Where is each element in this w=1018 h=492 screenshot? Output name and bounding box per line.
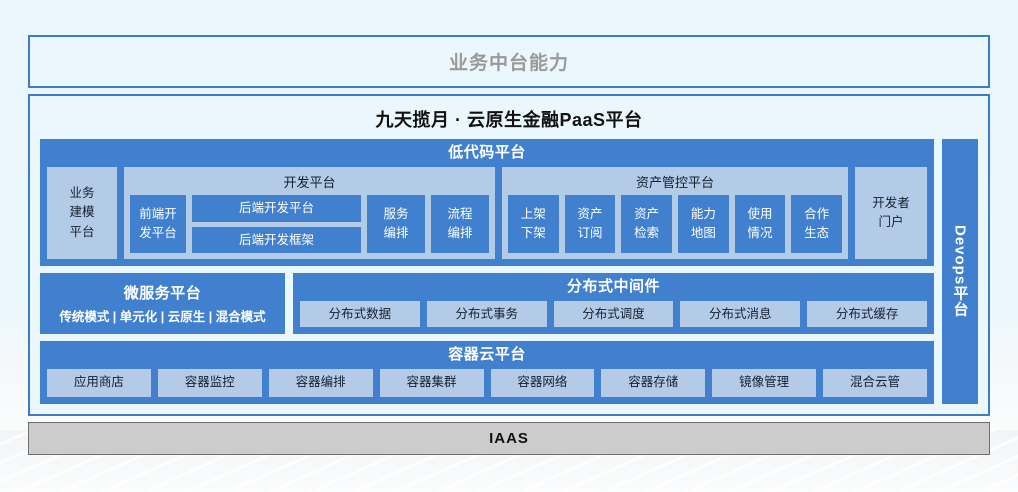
devops-platform-label: Devops平台 bbox=[950, 225, 971, 317]
microservice-platform-section[interactable]: 微服务平台 传统模式 | 单元化 | 云原生 | 混合模式 bbox=[40, 273, 285, 334]
business-middle-platform-band: 业务中台能力 bbox=[28, 35, 990, 88]
lowcode-platform-row: 业务建模平台 开发平台 前端开发平台 后端开发平台 后端开发框架 bbox=[47, 167, 927, 260]
container-cloud-platform-title: 容器云平台 bbox=[47, 345, 927, 369]
dev-platform-title: 开发平台 bbox=[130, 170, 489, 195]
asset-management-platform-panel: 资产管控平台 上架下架 资产订阅 资产检索 能力地图 使用情况 合作生态 bbox=[502, 167, 848, 260]
middleware-item-scheduling[interactable]: 分布式调度 bbox=[554, 301, 674, 327]
iaas-label: IAAS bbox=[489, 430, 529, 447]
architecture-diagram: 业务中台能力 九天揽月 · 云原生金融PaaS平台 低代码平台 业务建模平台 开… bbox=[28, 35, 990, 455]
asset-item-ecosystem[interactable]: 合作生态 bbox=[791, 195, 842, 254]
process-orchestration-chip[interactable]: 流程编排 bbox=[431, 195, 489, 254]
paas-platform-title: 九天揽月 · 云原生金融PaaS平台 bbox=[40, 104, 978, 139]
container-item-app-store[interactable]: 应用商店 bbox=[47, 369, 151, 397]
service-orchestration-chip[interactable]: 服务编排 bbox=[367, 195, 425, 254]
dev-platform-panel: 开发平台 前端开发平台 后端开发平台 后端开发框架 服务编排 流程编排 bbox=[124, 167, 495, 260]
distributed-middleware-section: 分布式中间件 分布式数据 分布式事务 分布式调度 分布式消息 分布式缓存 bbox=[293, 273, 934, 334]
middleware-item-message[interactable]: 分布式消息 bbox=[680, 301, 800, 327]
asset-item-subscription[interactable]: 资产订阅 bbox=[565, 195, 616, 254]
asset-item-capability-map[interactable]: 能力地图 bbox=[678, 195, 729, 254]
middleware-item-data[interactable]: 分布式数据 bbox=[300, 301, 420, 327]
dev-platform-items: 前端开发平台 后端开发平台 后端开发框架 服务编排 流程编排 bbox=[130, 195, 489, 254]
paas-platform-body: 低代码平台 业务建模平台 开发平台 前端开发平台 后端开发平台 bbox=[40, 139, 978, 404]
paas-stack-column: 低代码平台 业务建模平台 开发平台 前端开发平台 后端开发平台 bbox=[40, 139, 934, 404]
slide-canvas: 业务中台能力 九天揽月 · 云原生金融PaaS平台 低代码平台 业务建模平台 开… bbox=[0, 0, 1018, 492]
container-item-image-management[interactable]: 镜像管理 bbox=[712, 369, 816, 397]
asset-management-platform-title: 资产管控平台 bbox=[508, 170, 842, 195]
middleware-item-cache[interactable]: 分布式缓存 bbox=[807, 301, 927, 327]
iaas-band: IAAS bbox=[28, 422, 990, 455]
container-item-storage[interactable]: 容器存储 bbox=[601, 369, 705, 397]
asset-item-usage[interactable]: 使用情况 bbox=[735, 195, 786, 254]
container-cloud-platform-section: 容器云平台 应用商店 容器监控 容器编排 容器集群 容器网络 容器存储 镜像管理… bbox=[40, 341, 934, 404]
business-modelling-platform-box[interactable]: 业务建模平台 bbox=[47, 167, 117, 260]
backend-dev-stack: 后端开发平台 后端开发框架 bbox=[192, 195, 361, 254]
backend-dev-platform-chip[interactable]: 后端开发平台 bbox=[192, 195, 361, 222]
asset-management-items: 上架下架 资产订阅 资产检索 能力地图 使用情况 合作生态 bbox=[508, 195, 842, 254]
lowcode-platform-title: 低代码平台 bbox=[47, 143, 927, 167]
container-item-cluster[interactable]: 容器集群 bbox=[380, 369, 484, 397]
distributed-middleware-items: 分布式数据 分布式事务 分布式调度 分布式消息 分布式缓存 bbox=[300, 301, 927, 327]
paas-platform-frame: 九天揽月 · 云原生金融PaaS平台 低代码平台 业务建模平台 开发平台 bbox=[28, 94, 990, 416]
backend-dev-framework-chip[interactable]: 后端开发框架 bbox=[192, 227, 361, 254]
asset-item-search[interactable]: 资产检索 bbox=[621, 195, 672, 254]
business-middle-platform-label: 业务中台能力 bbox=[449, 48, 569, 75]
container-item-network[interactable]: 容器网络 bbox=[491, 369, 595, 397]
frontend-dev-platform-chip[interactable]: 前端开发平台 bbox=[130, 195, 186, 254]
container-cloud-items: 应用商店 容器监控 容器编排 容器集群 容器网络 容器存储 镜像管理 混合云管 bbox=[47, 369, 927, 397]
asset-item-listing[interactable]: 上架下架 bbox=[508, 195, 559, 254]
lowcode-platform-section: 低代码平台 业务建模平台 开发平台 前端开发平台 后端开发平台 bbox=[40, 139, 934, 266]
container-item-hybrid-cloud[interactable]: 混合云管 bbox=[823, 369, 927, 397]
middleware-item-transaction[interactable]: 分布式事务 bbox=[427, 301, 547, 327]
microservice-platform-title: 微服务平台 bbox=[124, 282, 202, 303]
distributed-middleware-title: 分布式中间件 bbox=[300, 277, 927, 301]
middle-row: 微服务平台 传统模式 | 单元化 | 云原生 | 混合模式 分布式中间件 分布式… bbox=[40, 273, 934, 334]
container-item-monitoring[interactable]: 容器监控 bbox=[158, 369, 262, 397]
devops-platform-sidebar[interactable]: Devops平台 bbox=[942, 139, 978, 404]
microservice-platform-modes: 传统模式 | 单元化 | 云原生 | 混合模式 bbox=[59, 303, 265, 325]
container-item-orchestration[interactable]: 容器编排 bbox=[269, 369, 373, 397]
developer-portal-box[interactable]: 开发者门户 bbox=[855, 167, 927, 260]
